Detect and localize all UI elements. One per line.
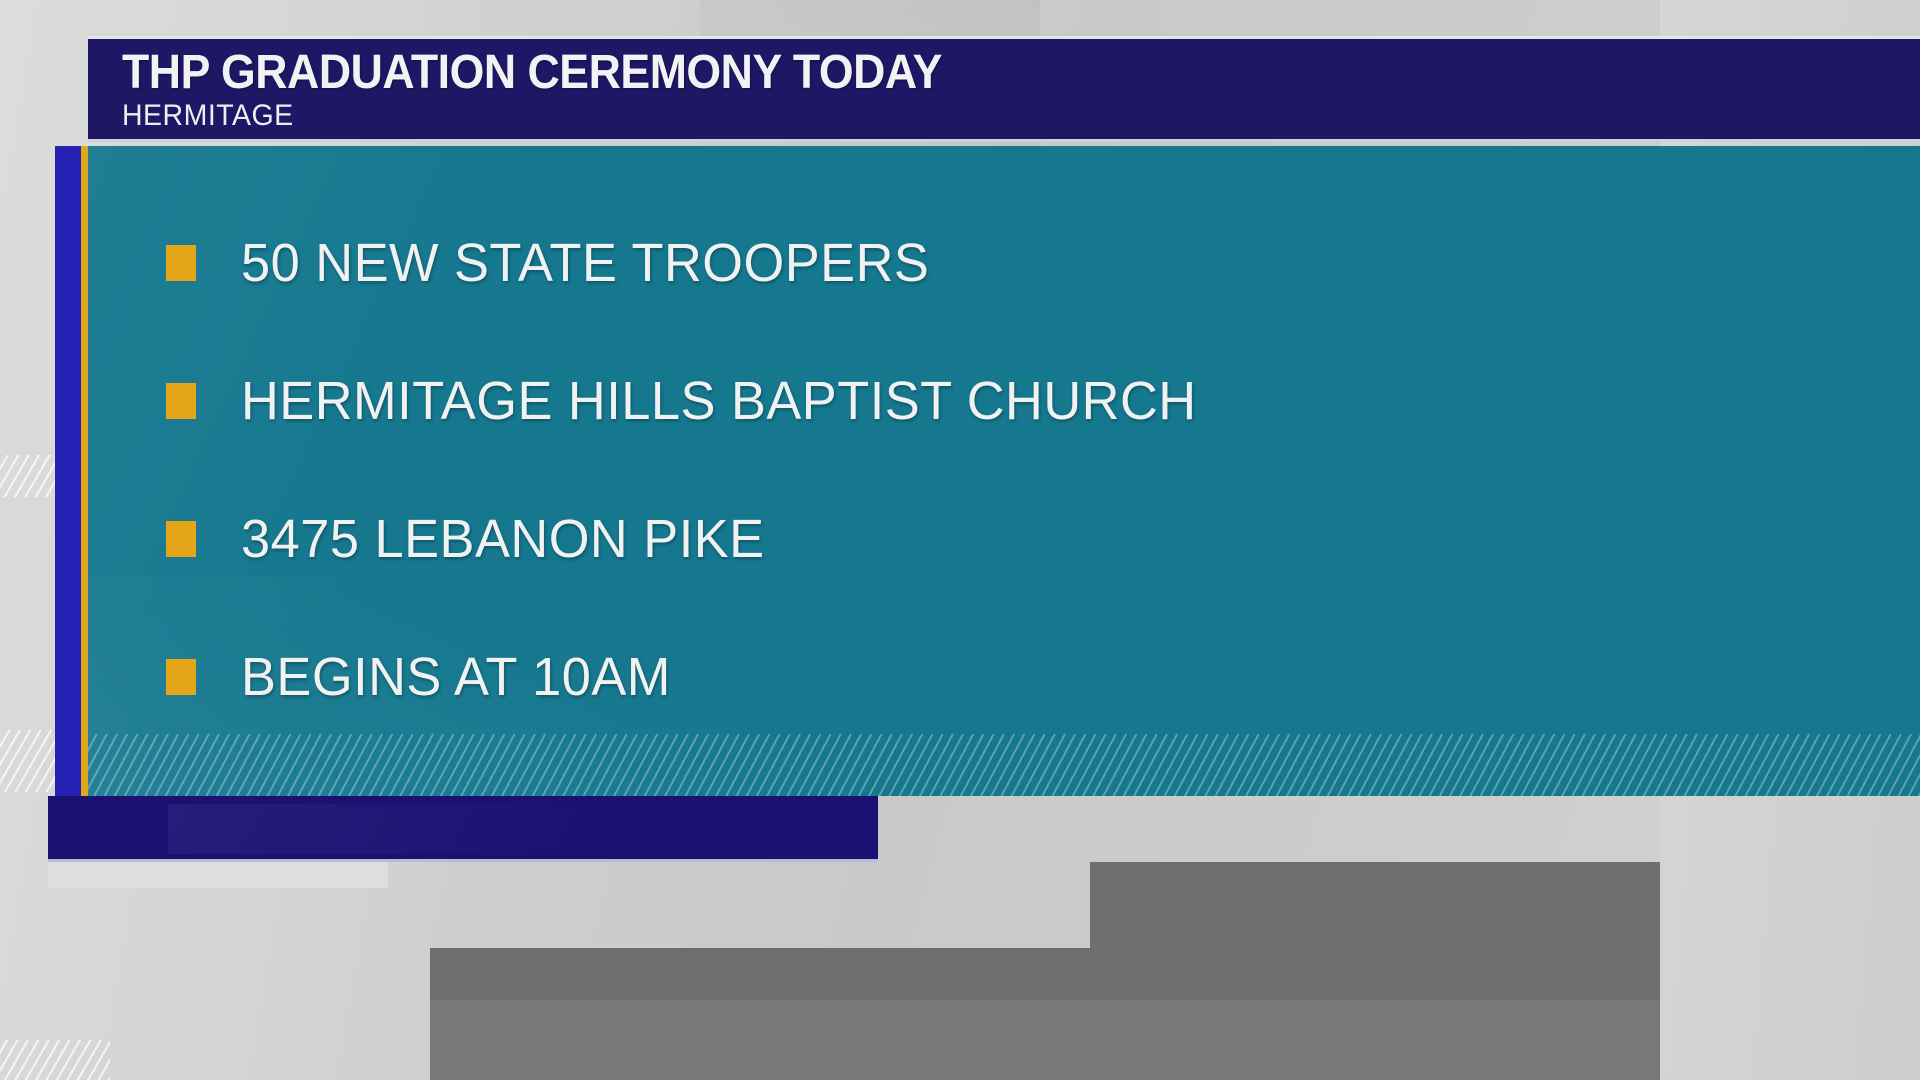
broadcast-lower-third-graphic: THP GRADUATION CEREMONY TODAY HERMITAGE … (0, 0, 1920, 1080)
footer-light-strip (48, 862, 388, 888)
headline-banner: THP GRADUATION CEREMONY TODAY HERMITAGE (88, 36, 1920, 142)
list-item: 50 NEW STATE TROOPERS (166, 194, 1866, 332)
background-desk-upper (1090, 862, 1660, 952)
square-bullet-icon (166, 659, 196, 695)
footer-banner (48, 796, 878, 862)
square-bullet-icon (166, 521, 196, 557)
details-panel: 50 NEW STATE TROOPERS HERMITAGE HILLS BA… (88, 146, 1920, 796)
square-bullet-icon (166, 245, 196, 281)
background-hatch-texture-lower (0, 1040, 110, 1080)
list-item: HERMITAGE HILLS BAPTIST CHURCH (166, 332, 1866, 470)
footer-highlight-sheen (168, 804, 768, 854)
fact-list: 50 NEW STATE TROOPERS HERMITAGE HILLS BA… (166, 194, 1866, 746)
accent-bar-blue (55, 146, 81, 796)
list-item: BEGINS AT 10AM (166, 608, 1866, 746)
background-desk-lower (430, 1000, 1660, 1080)
list-item-label: HERMITAGE HILLS BAPTIST CHURCH (241, 374, 1197, 428)
list-item-label: 3475 LEBANON PIKE (241, 512, 765, 566)
list-item-label: BEGINS AT 10AM (241, 650, 671, 704)
square-bullet-icon (166, 383, 196, 419)
list-item: 3475 LEBANON PIKE (166, 470, 1866, 608)
headline-location-subtitle: HERMITAGE (122, 101, 294, 131)
headline-title: THP GRADUATION CEREMONY TODAY (122, 49, 942, 97)
list-item-label: 50 NEW STATE TROOPERS (241, 236, 929, 290)
